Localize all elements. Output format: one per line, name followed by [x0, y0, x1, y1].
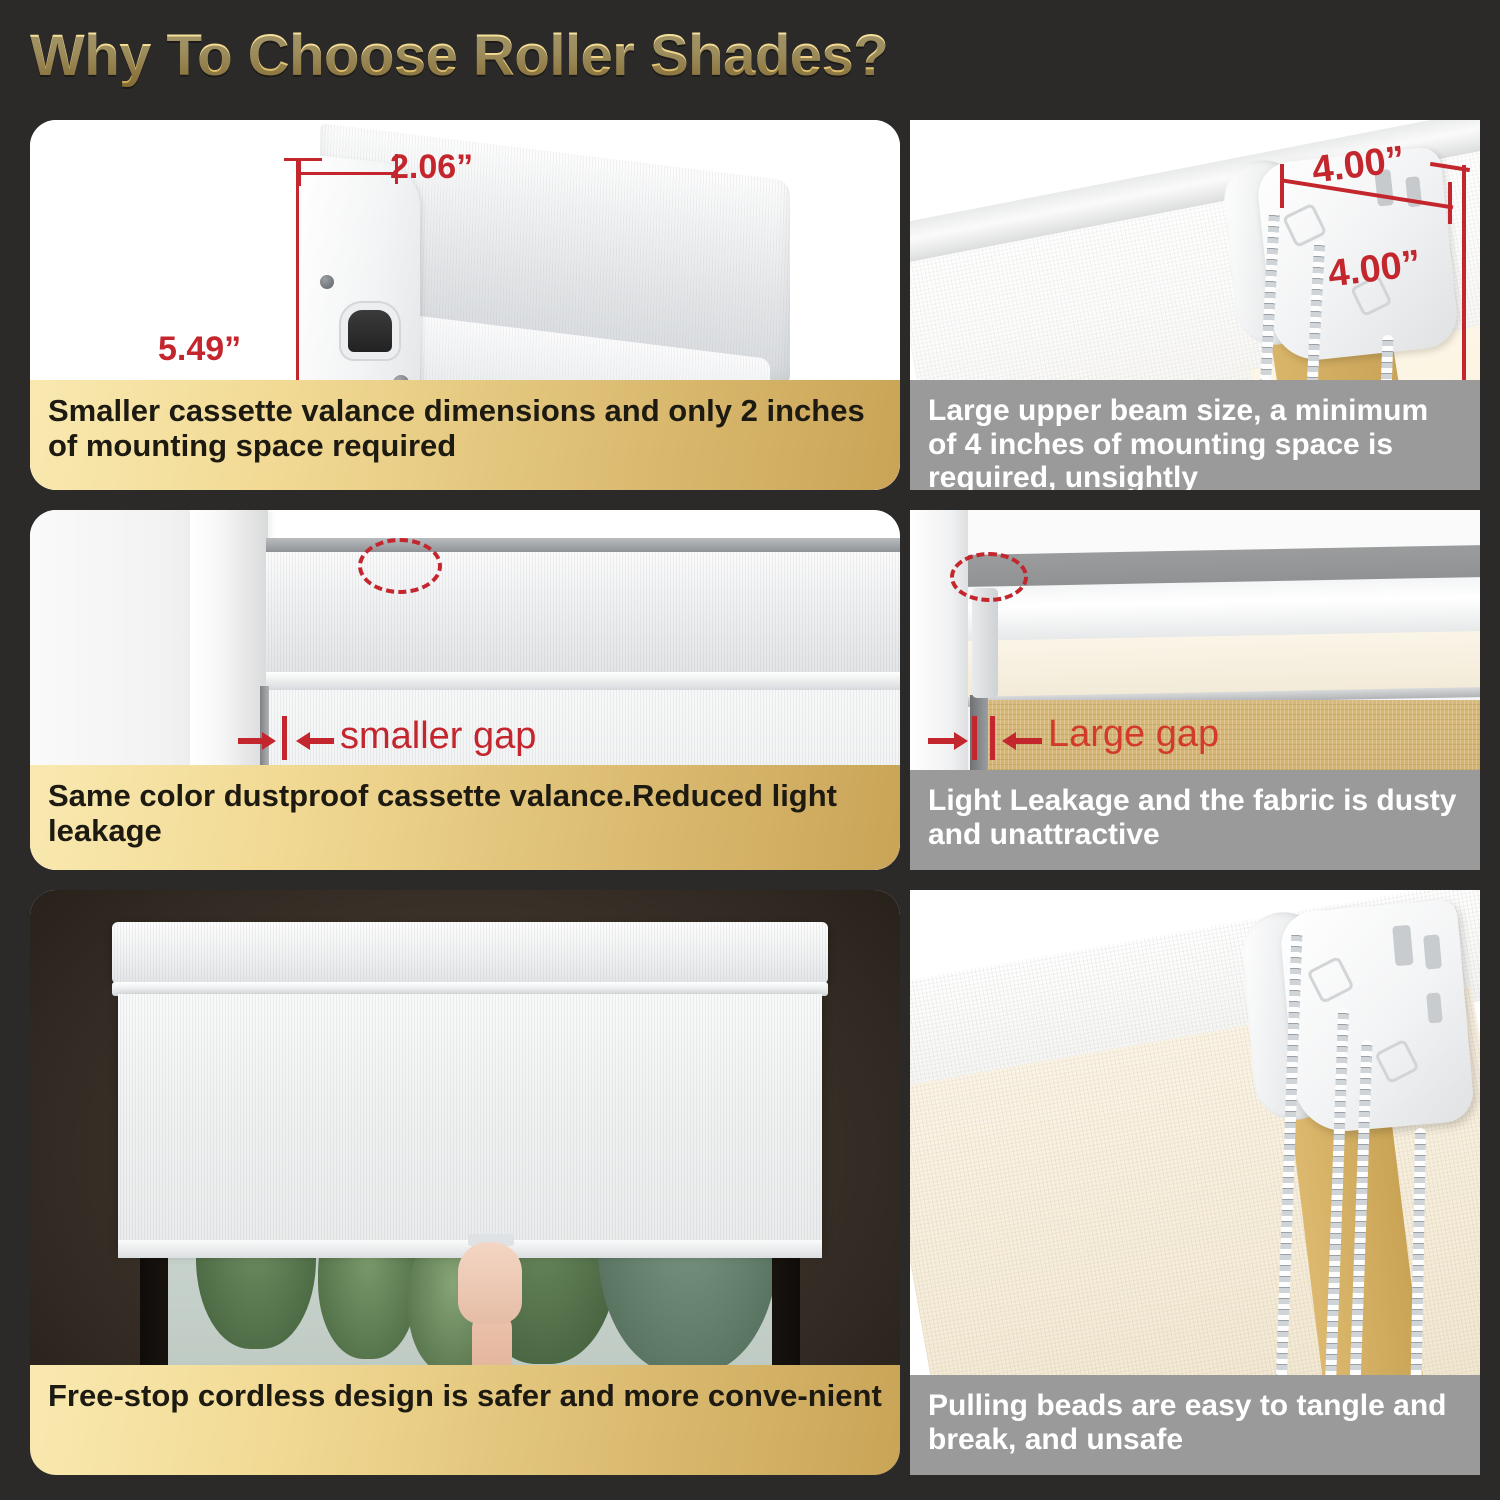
width-dim-line: [298, 172, 398, 175]
panel-caption: Smaller cassette valance dimensions and …: [30, 380, 900, 490]
gap-marker: [282, 716, 287, 760]
height-dimension-label: 5.49”: [158, 330, 241, 369]
mounting-bracket: [1279, 899, 1476, 1136]
gap-arrow-left-icon: [238, 728, 278, 754]
shade-fabric: [118, 994, 822, 1250]
bracket-arrow-icon: [1374, 1039, 1420, 1085]
palm: [458, 1242, 522, 1324]
highlight-ellipse-icon: [950, 552, 1028, 602]
caption-text: Same color dustproof cassette valance.Re…: [48, 779, 882, 848]
gap-marker: [972, 716, 977, 760]
caption-text: Smaller cassette valance dimensions and …: [48, 394, 882, 463]
infographic-root: Why To Choose Roller Shades? 2.06” 5.49”…: [0, 0, 1500, 1500]
panel-caption: Pulling beads are easy to tangle and bre…: [910, 1375, 1480, 1475]
panel-smaller-gap: smaller gap Same color dustproof cassett…: [30, 510, 900, 870]
highlight-ellipse-icon: [358, 538, 442, 594]
panel-cassette-valance: 2.06” 5.49” Smaller cassette valance dim…: [30, 120, 900, 490]
end-bracket: [972, 588, 998, 698]
screw-icon: [320, 275, 334, 289]
bracket-arrow-icon: [1306, 956, 1354, 1004]
panel-caption: Same color dustproof cassette valance.Re…: [30, 765, 900, 870]
caption-text: Pulling beads are easy to tangle and bre…: [928, 1389, 1462, 1456]
bracket-notch-icon: [1392, 925, 1413, 966]
cassette-valance: [112, 922, 828, 984]
width-dim-tick-left: [1280, 164, 1284, 208]
caption-text: Large upper beam size, a minimum of 4 in…: [928, 394, 1462, 490]
panel-large-gap: Large gap Light Leakage and the fabric i…: [910, 510, 1480, 870]
gap-label: Large gap: [1048, 713, 1219, 756]
panel-caption: Large upper beam size, a minimum of 4 in…: [910, 380, 1480, 490]
gap-arrow-right-icon: [1000, 728, 1042, 754]
panel-cordless-design: Free-stop cordless design is safer and m…: [30, 890, 900, 1475]
page-title: Why To Choose Roller Shades?: [30, 22, 888, 89]
bracket-notch-icon: [1423, 934, 1442, 969]
caption-text: Light Leakage and the fabric is dusty an…: [928, 784, 1462, 851]
panel-caption: Free-stop cordless design is safer and m…: [30, 1365, 900, 1475]
gap-label: smaller gap: [340, 715, 536, 758]
width-dimension-label: 2.06”: [390, 148, 473, 187]
panel-pulling-beads: Pulling beads are easy to tangle and bre…: [910, 890, 1480, 1475]
height-dim-tick-top: [284, 158, 322, 161]
valance-lip: [266, 672, 900, 690]
bracket-slot-icon: [348, 310, 392, 352]
width-dim-tick-right: [1448, 182, 1452, 224]
gap-arrow-left-icon: [928, 728, 970, 754]
panel-large-upper-beam: 4.00” 4.00” Large upper beam size, a min…: [910, 120, 1480, 490]
gap-marker: [990, 716, 995, 760]
bracket-notch-icon: [1426, 992, 1443, 1023]
panel-caption: Light Leakage and the fabric is dusty an…: [910, 770, 1480, 870]
caption-text: Free-stop cordless design is safer and m…: [48, 1379, 882, 1414]
head-rail-shadow: [266, 538, 900, 552]
gap-arrow-right-icon: [294, 728, 334, 754]
